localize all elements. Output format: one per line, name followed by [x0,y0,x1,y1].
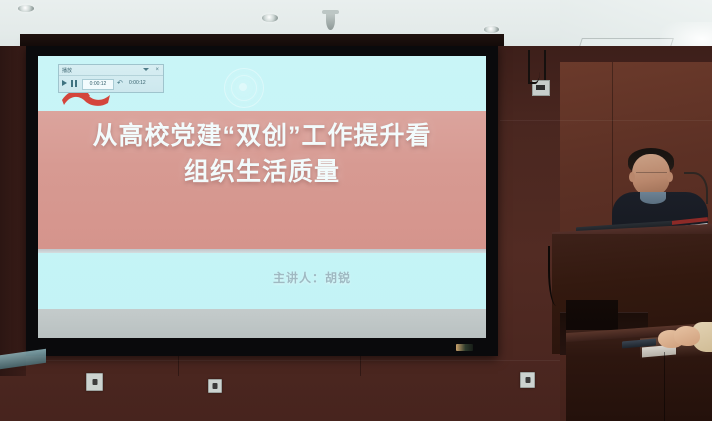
pause-icon[interactable] [71,80,77,87]
downlight-icon [18,5,34,12]
slide-footer-bar [38,309,486,338]
wall-panel-line [0,360,560,361]
university-crest-watermark-icon [224,68,264,108]
downlight-icon [484,26,499,33]
media-control-transport: 0:00:12 ↶ 0:00:12 [59,76,163,91]
presenter-glasses [636,172,667,177]
play-icon[interactable] [62,80,67,86]
downlight-icon [262,14,278,22]
powerpoint-slide[interactable]: 从高校党建“双创”工作提升看 组织生活质量 主讲人：胡锐 播放 × 0:00:1… [38,56,486,338]
power-outlet-icon[interactable] [86,373,103,391]
presenter-ear [667,172,673,182]
slide-presenter-label: 主讲人：胡锐 [38,269,486,286]
hanging-cable [544,50,550,80]
elapsed-time-field[interactable]: 0:00:12 [82,79,114,90]
projection-screen-surface: 从高校党建“双创”工作提升看 组织生活质量 主讲人：胡锐 播放 × 0:00:1… [38,56,486,338]
projection-screen-frame: 从高校党建“双创”工作提升看 组织生活质量 主讲人：胡锐 播放 × 0:00:1… [26,44,498,356]
close-icon[interactable]: × [155,66,159,74]
table-panel-divider [664,352,665,421]
power-outlet-icon[interactable] [520,372,535,388]
wall-panel-line [500,120,712,121]
lecture-hall-photo: 从高校党建“双创”工作提升看 组织生活质量 主讲人：胡锐 播放 × 0:00:1… [0,0,712,421]
presenter-ear [629,172,635,182]
chevron-down-icon[interactable] [143,68,149,71]
slide-title: 从高校党建“双创”工作提升看 组织生活质量 [38,118,486,190]
total-time-label: 0:00:12 [129,79,146,88]
presenter-collar [640,192,666,204]
rewind-icon[interactable]: ↶ [117,79,123,88]
seated-attendee-hands [658,322,712,352]
network-outlet-icon[interactable] [208,379,222,393]
hand [674,326,700,346]
hanging-cable [528,50,540,84]
screen-ir-sensor-icon [456,344,473,351]
sprinkler-head-icon [326,10,335,30]
media-control-titlebar: 播放 × [59,65,163,76]
media-control-title: 播放 [62,67,72,74]
left-wall-pillar [0,46,26,376]
podium-cable [548,246,562,306]
slide-title-line1: 从高校党建“双创”工作提升看 [92,122,431,150]
media-playback-control[interactable]: 播放 × 0:00:12 ↶ 0:00:12 [58,64,164,93]
slide-title-line2: 组织生活质量 [38,154,486,190]
